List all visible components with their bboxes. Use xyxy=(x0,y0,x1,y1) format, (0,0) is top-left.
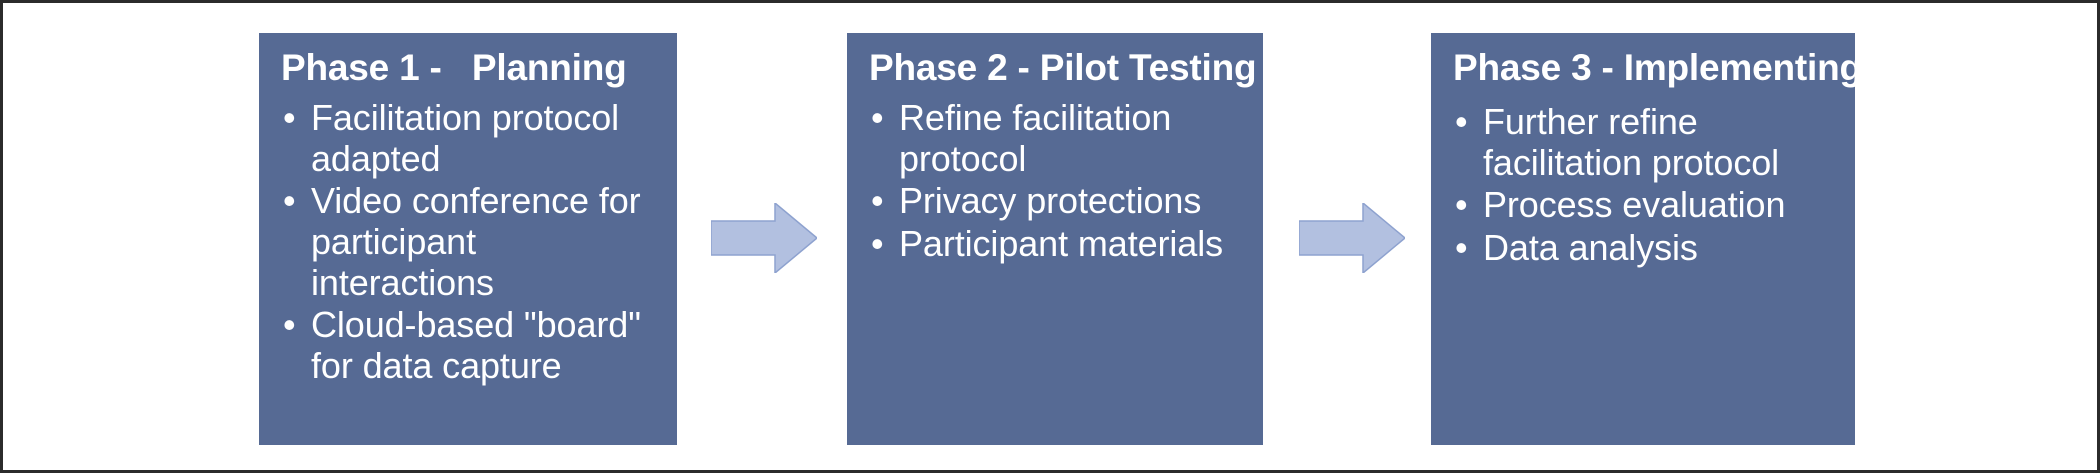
bullet-dot-icon: • xyxy=(1455,102,1468,143)
list-item-label: Privacy protections xyxy=(899,180,1201,221)
list-item-label: Further refine facilitation protocol xyxy=(1483,101,1779,183)
bullet-dot-icon: • xyxy=(871,224,884,265)
list-item: • Privacy protections xyxy=(869,181,1241,222)
phase-1-title: Phase 1 - Planning xyxy=(281,47,655,88)
list-item: • Data analysis xyxy=(1453,228,1833,269)
list-item-label: Refine facilitation protocol xyxy=(899,97,1171,179)
diagram-canvas: Phase 1 - Planning • Facilitation protoc… xyxy=(0,0,2100,473)
arrow-phase1-to-phase2-icon xyxy=(711,203,817,273)
bullet-dot-icon: • xyxy=(283,181,296,222)
phase-2-bullet-list: • Refine facilitation protocol • Privacy… xyxy=(869,98,1241,265)
list-item-label: Participant materials xyxy=(899,223,1223,264)
phase-2-title: Phase 2 - Pilot Testing xyxy=(869,47,1241,88)
bullet-dot-icon: • xyxy=(283,98,296,139)
bullet-dot-icon: • xyxy=(871,98,884,139)
phase-box-1[interactable]: Phase 1 - Planning • Facilitation protoc… xyxy=(259,33,677,445)
list-item: • Cloud-based "board" for data capture xyxy=(281,305,655,386)
phase-box-3[interactable]: Phase 3 - Implementing • Further refine … xyxy=(1431,33,1855,445)
phase-3-bullet-list: • Further refine facilitation protocol •… xyxy=(1453,102,1833,269)
list-item-label: Process evaluation xyxy=(1483,184,1785,225)
phase-1-bullet-list: • Facilitation protocol adapted • Video … xyxy=(281,98,655,387)
list-item: • Refine facilitation protocol xyxy=(869,98,1241,179)
phase-box-2[interactable]: Phase 2 - Pilot Testing • Refine facilit… xyxy=(847,33,1263,445)
list-item: • Facilitation protocol adapted xyxy=(281,98,655,179)
bullet-dot-icon: • xyxy=(1455,185,1468,226)
bullet-dot-icon: • xyxy=(1455,228,1468,269)
list-item: • Video conference for participant inter… xyxy=(281,181,655,303)
list-item: • Further refine facilitation protocol xyxy=(1453,102,1833,183)
bullet-dot-icon: • xyxy=(283,305,296,346)
phase-3-title: Phase 3 - Implementing xyxy=(1453,47,1833,88)
list-item-label: Video conference for participant interac… xyxy=(311,180,641,302)
list-item: • Participant materials xyxy=(869,224,1241,265)
bullet-dot-icon: • xyxy=(871,181,884,222)
list-item-label: Cloud-based "board" for data capture xyxy=(311,304,641,386)
list-item-label: Facilitation protocol adapted xyxy=(311,97,619,179)
list-item: • Process evaluation xyxy=(1453,185,1833,226)
arrow-phase2-to-phase3-icon xyxy=(1299,203,1405,273)
list-item-label: Data analysis xyxy=(1483,227,1698,268)
